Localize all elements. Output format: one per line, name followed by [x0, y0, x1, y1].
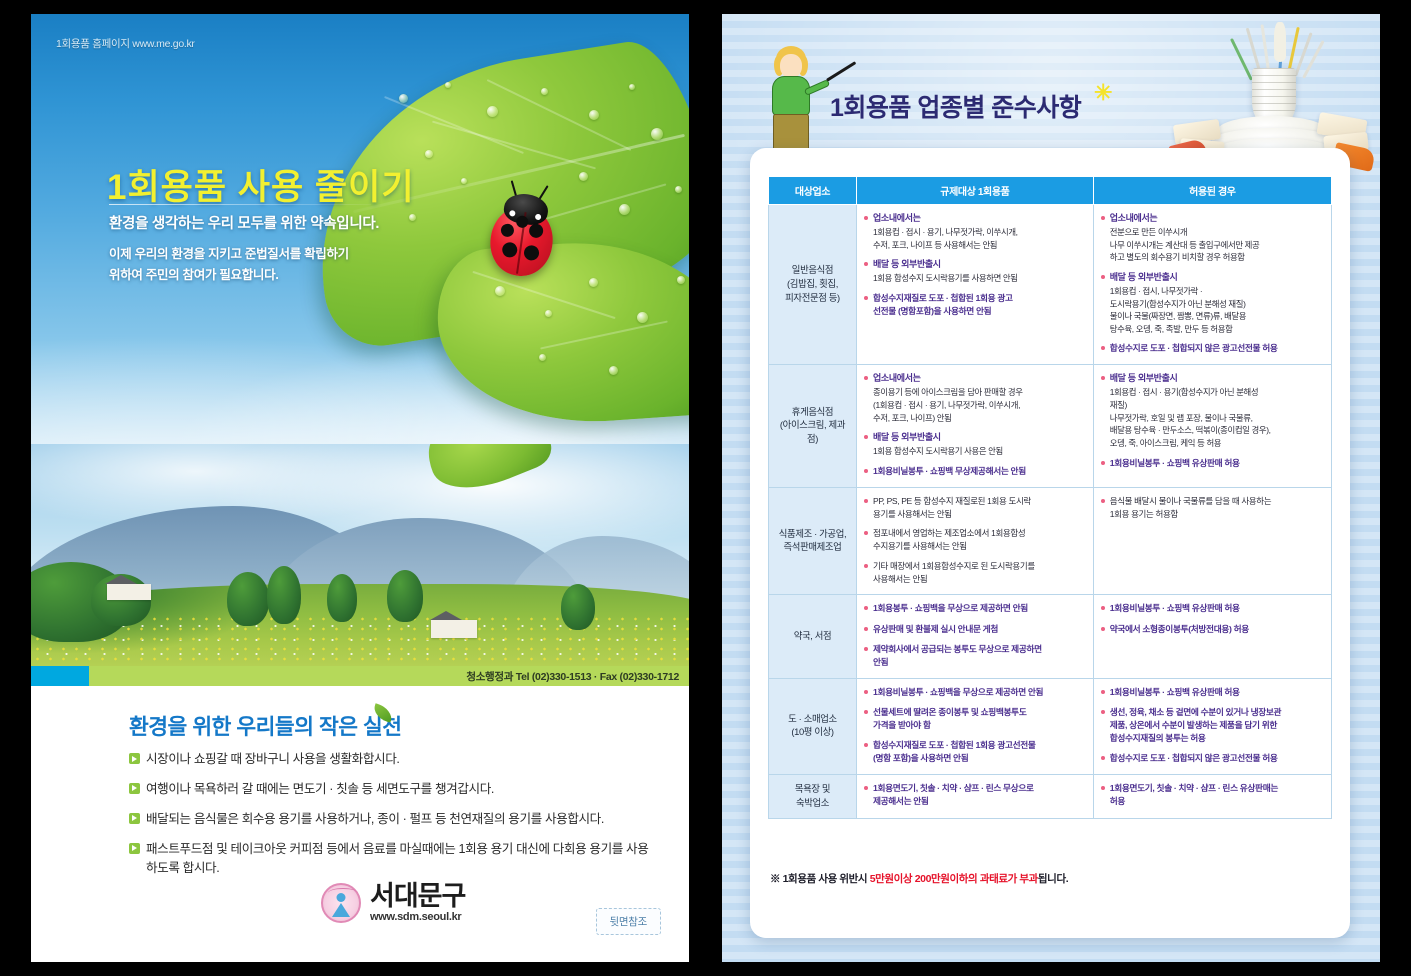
list-item: 시장이나 쇼핑갈 때 장바구니 사용을 생활화합시다. — [129, 750, 657, 769]
spoon-icon — [1274, 22, 1286, 62]
bullet-block: 1회용비닐봉투 · 쇼핑백 유상판매 허용 — [1101, 602, 1324, 615]
table-row: 식품제조 · 가공업, 즉석판매제조업 PP, PS, PE 등 합성수지 재질… — [769, 487, 1332, 595]
page-title: 1회용품 사용 줄이기 — [107, 159, 415, 210]
bullet-head: 업소내에서는 — [864, 372, 1086, 385]
back-reference-badge[interactable]: 뒷면참조 — [596, 908, 661, 935]
bullet-solo: 합성수지재질로 도포 · 첩합된 1회용 광고 선전물 (명함포함)을 사용하면… — [864, 292, 1086, 318]
regulated-cell: 1회용면도기, 칫솔 · 치약 · 샴프 · 린스 무상으로 제공해서는 안됨 — [857, 774, 1094, 818]
dew-drop — [651, 128, 663, 140]
bullet-block: 생선, 정육, 채소 등 겉면에 수분이 있거나 냉장보관 제품, 상온에서 수… — [1101, 706, 1324, 745]
dew-drop — [675, 186, 682, 193]
regulated-cell: 1회용봉투 · 쇼핑백을 무상으로 제공하면 안됨 유상판매 및 환불제 실시 … — [857, 595, 1094, 678]
list-item: 배달되는 음식물은 회수용 용기를 사용하거나, 종이 · 펄프 등 천연재질의… — [129, 810, 657, 829]
list-item: 여행이나 목욕하러 갈 때에는 면도기 · 칫솔 등 세면도구를 챙겨갑시다. — [129, 780, 657, 799]
logo-text: 서대문구 www.sdm.seoul.kr — [370, 882, 465, 924]
brochure-stage: 1회용품 홈페이지 www.me.go.kr — [0, 0, 1411, 976]
bullet-block: 1회용비닐봉투 · 쇼핑백 무상제공해서는 안됨 — [864, 465, 1086, 478]
bullet-block: 합성수지재질로 도포 · 첩합된 1회용 광고 선전물 (명함포함)을 사용하면… — [864, 292, 1086, 318]
bullet-sub: 전분으로 만든 이쑤시개 나무 이쑤시개는 계산대 등 출입구에서만 제공 하고… — [1101, 226, 1324, 264]
bullet-sub: 1회용 합성수지 도시락용기를 사용하면 안됨 — [864, 272, 1086, 285]
band-cyan-block — [31, 666, 89, 686]
column-header-allowed: 허용된 경우 — [1093, 177, 1331, 205]
district-url: www.sdm.seoul.kr — [370, 912, 465, 924]
tip-text: 패스트푸드점 및 테이크아웃 커피점 등에서 음료를 마실때에는 1회용 용기 … — [146, 840, 657, 878]
dew-drop — [409, 214, 416, 221]
bullet-plain: PP, PS, PE 등 합성수지 재질로된 1회용 도시락 용기를 사용해서는… — [864, 495, 1086, 521]
regulated-cell: 1회용비닐봉투 · 쇼핑백을 무상으로 제공하면 안됨 선물세트에 딸려온 종이… — [857, 678, 1094, 774]
table-row: 휴게음식점 (아이스크림, 제과점) 업소내에서는 종이용기 등에 아이스크림을… — [769, 365, 1332, 488]
ladybug-eye — [535, 214, 542, 221]
bullet-block: PP, PS, PE 등 합성수지 재질로된 1회용 도시락 용기를 사용해서는… — [864, 495, 1086, 521]
column-header-regulated: 규제대상 1회용품 — [857, 177, 1094, 205]
bullet-solo: 선물세트에 딸려온 종이봉투 및 쇼핑백봉투도 가격을 받아야 함 — [864, 706, 1086, 732]
regulated-cell: 업소내에서는 종이용기 등에 아이스크림을 담아 판매할 경우 (1회용컵 · … — [857, 365, 1094, 488]
bullet-block: 유상판매 및 환불제 실시 안내문 게첨 — [864, 623, 1086, 636]
dew-drop — [487, 106, 498, 117]
teacher-top — [772, 76, 810, 116]
business-category: 휴게음식점 (아이스크림, 제과점) — [769, 365, 857, 488]
bullet-solo: 1회용비닐봉투 · 쇼핑백 유상판매 허용 — [1101, 457, 1324, 470]
dew-drop — [399, 94, 408, 103]
dew-drop — [589, 278, 598, 287]
bullet-block: 1회용비닐봉투 · 쇼핑백을 무상으로 제공하면 안됨 — [864, 686, 1086, 699]
bullet-solo: 1회용면도기, 칫솔 · 치약 · 샴프 · 린스 유상판매는 허용 — [1101, 782, 1324, 808]
star-accent-icon: ✳ — [1094, 80, 1112, 106]
bullet-block: 1회용비닐봉투 · 쇼핑백 유상판매 허용 — [1101, 457, 1324, 470]
bullet-plain: 점포내에서 영업하는 제조업소에서 1회용합성 수지용기를 사용해서는 안됨 — [864, 527, 1086, 553]
bullet-solo: 합성수지로 도포 · 첩합되지 않은 광고선전물 허용 — [1101, 342, 1324, 355]
page-subtitle: 환경을 생각하는 우리 모두를 위한 약속입니다. — [109, 212, 379, 233]
bullet-sub: 1회용컵 · 접시, 나무젓가락 · 도시락용기(합성수지가 아닌 분해성 재질… — [1101, 285, 1324, 335]
dew-drop — [619, 204, 630, 215]
bullet-block: 기타 매장에서 1회용합성수지로 된 도시락용기를 사용해서는 안됨 — [864, 560, 1086, 586]
dew-drop — [445, 82, 451, 88]
arrow-bullet-icon — [129, 753, 140, 764]
bullet-block: 배달 등 외부반출시 1회용컵 · 접시 · 용기(합성수지가 아닌 분해성 재… — [1101, 372, 1324, 449]
farmhouse — [107, 584, 151, 600]
district-logo: 서대문구 www.sdm.seoul.kr — [321, 882, 465, 924]
bullet-block: 음식물 배달시 물이나 국물류를 담을 때 사용하는 1회용 용기는 허용함 — [1101, 495, 1324, 521]
bullet-sub: 1회용컵 · 접시 · 용기, 나무젓가락, 이쑤시개, 수저, 포크, 나이프… — [864, 226, 1086, 251]
bullet-block: 합성수지재질로 도포 · 첩합된 1회용 광고선전물 (명함 포함)을 사용하면… — [864, 739, 1086, 765]
allowed-cell: 1회용면도기, 칫솔 · 치약 · 샴프 · 린스 유상판매는 허용 — [1093, 774, 1331, 818]
bullet-block: 업소내에서는 전분으로 만든 이쑤시개 나무 이쑤시개는 계산대 등 출입구에서… — [1101, 212, 1324, 264]
left-page: 1회용품 홈페이지 www.me.go.kr — [31, 14, 689, 962]
bullet-head: 배달 등 외부반출시 — [1101, 271, 1324, 284]
dew-drop — [589, 110, 599, 120]
tip-text: 여행이나 목욕하러 갈 때에는 면도기 · 칫솔 등 세면도구를 챙겨갑시다. — [146, 780, 494, 799]
bullet-solo: 1회용비닐봉투 · 쇼핑백 무상제공해서는 안됨 — [864, 465, 1086, 478]
table-row: 목욕장 및 숙박업소 1회용면도기, 칫솔 · 치약 · 샴프 · 린스 무상으… — [769, 774, 1332, 818]
arrow-bullet-icon — [129, 783, 140, 794]
bullet-solo: 제약회사에서 공급되는 봉투도 무상으로 제공하면 안됨 — [864, 643, 1086, 669]
allowed-cell: 음식물 배달시 물이나 국물류를 담을 때 사용하는 1회용 용기는 허용함 — [1093, 487, 1331, 595]
tip-text: 시장이나 쇼핑갈 때 장바구니 사용을 생활화합시다. — [146, 750, 400, 769]
farmhouse — [431, 620, 477, 638]
tree-clump — [327, 574, 357, 622]
section-title: 환경을 위한 우리들의 작은 실천 — [129, 710, 402, 741]
color-band: 청소행정과 Tel (02)330-1513 · Fax (02)330-171… — [31, 666, 689, 686]
tree-clump — [267, 566, 301, 624]
dew-drop — [495, 286, 505, 296]
allowed-cell: 1회용비닐봉투 · 쇼핑백 유상판매 허용 생선, 정육, 채소 등 겉면에 수… — [1093, 678, 1331, 774]
bullet-block: 1회용비닐봉투 · 쇼핑백 유상판매 허용 — [1101, 686, 1324, 699]
list-item: 패스트푸드점 및 테이크아웃 커피점 등에서 음료를 마실때에는 1회용 용기 … — [129, 840, 657, 878]
dew-drop — [425, 150, 433, 158]
penalty-note-prefix: ※ 1회용품 사용 위반시 — [770, 873, 870, 885]
tips-list: 시장이나 쇼핑갈 때 장바구니 사용을 생활화합시다. 여행이나 목욕하러 갈 … — [129, 750, 657, 888]
bullet-block: 배달 등 외부반출시 1회용 합성수지 도시락용기를 사용하면 안됨 — [864, 258, 1086, 285]
allowed-cell: 배달 등 외부반출시 1회용컵 · 접시 · 용기(합성수지가 아닌 분해성 재… — [1093, 365, 1331, 488]
title-divider — [109, 204, 371, 205]
dew-drop — [637, 312, 648, 323]
business-category: 목욕장 및 숙박업소 — [769, 774, 857, 818]
column-header-business: 대상업소 — [769, 177, 857, 205]
business-category: 도 · 소매업소 (10평 이상) — [769, 678, 857, 774]
business-category: 약국, 서점 — [769, 595, 857, 678]
bullet-sub: 1회용컵 · 접시 · 용기(합성수지가 아닌 분해성 재질) 나무젓가락, 호… — [1101, 386, 1324, 449]
table-header-row: 대상업소 규제대상 1회용품 허용된 경우 — [769, 177, 1332, 205]
leaf-lower — [433, 232, 689, 432]
bullet-head: 업소내에서는 — [864, 212, 1086, 225]
allowed-cell: 1회용비닐봉투 · 쇼핑백 유상판매 허용 약국에서 소형종이봉투(처방전대용)… — [1093, 595, 1331, 678]
landscape-photo — [31, 444, 689, 672]
bullet-solo: 합성수지재질로 도포 · 첩합된 1회용 광고선전물 (명함 포함)을 사용하면… — [864, 739, 1086, 765]
tree-clump — [227, 572, 269, 626]
bullet-head: 배달 등 외부반출시 — [1101, 372, 1324, 385]
dew-drop — [545, 310, 552, 317]
bullet-head: 업소내에서는 — [1101, 212, 1324, 225]
regulated-cell: PP, PS, PE 등 합성수지 재질로된 1회용 도시락 용기를 사용해서는… — [857, 487, 1094, 595]
ladybug-eye — [509, 210, 516, 217]
seodaemun-emblem-icon — [321, 883, 361, 923]
bullet-solo: 유상판매 및 환불제 실시 안내문 게첨 — [864, 623, 1086, 636]
teacher-face — [780, 54, 802, 78]
arrow-bullet-icon — [129, 843, 140, 854]
arrow-bullet-icon — [129, 813, 140, 824]
compliance-table: 대상업소 규제대상 1회용품 허용된 경우 일반음식점 (김밥집, 횟집, 피자… — [768, 176, 1332, 819]
ladybug-illustration — [483, 182, 563, 281]
bullet-block: 점포내에서 영업하는 제조업소에서 1회용합성 수지용기를 사용해서는 안됨 — [864, 527, 1086, 553]
bullet-block: 제약회사에서 공급되는 봉투도 무상으로 제공하면 안됨 — [864, 643, 1086, 669]
bullet-block: 배달 등 외부반출시 1회용 합성수지 도시락용기 사용은 안됨 — [864, 431, 1086, 458]
table-row: 일반음식점 (김밥집, 횟집, 피자전문점 등) 업소내에서는 1회용컵 · 접… — [769, 205, 1332, 365]
penalty-note: ※ 1회용품 사용 위반시 5만원이상 200만원이하의 과태료가 부과됩니다. — [770, 871, 1330, 886]
bullet-solo: 1회용면도기, 칫솔 · 치약 · 샴프 · 린스 무상으로 제공해서는 안됨 — [864, 782, 1086, 808]
bullet-solo: 1회용봉투 · 쇼핑백을 무상으로 제공하면 안됨 — [864, 602, 1086, 615]
emblem-figure-body — [332, 903, 350, 917]
penalty-note-amount: 5만원이상 200만원이하의 과태료가 부과 — [870, 873, 1038, 885]
district-name: 서대문구 — [370, 882, 465, 910]
bullet-solo: 합성수지로 도포 · 첩합되지 않은 광고선전물 허용 — [1101, 752, 1324, 765]
bullet-plain: 음식물 배달시 물이나 국물류를 담을 때 사용하는 1회용 용기는 허용함 — [1101, 495, 1324, 521]
bullet-plain: 기타 매장에서 1회용합성수지로 된 도시락용기를 사용해서는 안됨 — [864, 560, 1086, 586]
bullet-sub: 종이용기 등에 아이스크림을 담아 판매할 경우 (1회용컵 · 접시 · 용기… — [864, 386, 1086, 424]
bullet-block: 약국에서 소형종이봉투(처방전대용) 허용 — [1101, 623, 1324, 636]
bullet-block: 합성수지로 도포 · 첩합되지 않은 광고선전물 허용 — [1101, 342, 1324, 355]
bullet-block: 업소내에서는 종이용기 등에 아이스크림을 담아 판매할 경우 (1회용컵 · … — [864, 372, 1086, 424]
table-row: 약국, 서점 1회용봉투 · 쇼핑백을 무상으로 제공하면 안됨 유상판매 및 … — [769, 595, 1332, 678]
dew-drop — [677, 276, 685, 284]
page-body-text: 이제 우리의 환경을 지키고 준법질서를 확립하기 위하여 주민의 참여가 필요… — [109, 244, 399, 285]
farmhouse-roof — [105, 575, 137, 584]
business-category: 일반음식점 (김밥집, 횟집, 피자전문점 등) — [769, 205, 857, 365]
dew-drop — [461, 178, 467, 184]
tree-clump — [387, 570, 423, 622]
allowed-cell: 업소내에서는 전분으로 만든 이쑤시개 나무 이쑤시개는 계산대 등 출입구에서… — [1093, 205, 1331, 365]
homepage-url: 1회용품 홈페이지 www.me.go.kr — [56, 36, 195, 51]
bullet-block: 1회용면도기, 칫솔 · 치약 · 샴프 · 린스 유상판매는 허용 — [1101, 782, 1324, 808]
tree-clump — [561, 584, 595, 630]
bullet-block: 1회용봉투 · 쇼핑백을 무상으로 제공하면 안됨 — [864, 602, 1086, 615]
dew-drop — [579, 172, 588, 181]
penalty-note-suffix: 됩니다. — [1038, 873, 1068, 885]
emblem-figure-head — [337, 893, 346, 902]
table-row: 도 · 소매업소 (10평 이상) 1회용비닐봉투 · 쇼핑백을 무상으로 제공… — [769, 678, 1332, 774]
dew-drop — [609, 366, 618, 375]
dew-drop — [539, 354, 546, 361]
compliance-table-card: 대상업소 규제대상 1회용품 허용된 경우 일반음식점 (김밥집, 횟집, 피자… — [750, 148, 1350, 938]
bullet-solo: 1회용비닐봉투 · 쇼핑백을 무상으로 제공하면 안됨 — [864, 686, 1086, 699]
contact-info: 청소행정과 Tel (02)330-1513 · Fax (02)330-171… — [466, 669, 679, 684]
right-page-title: 1회용품 업종별 준수사항 — [830, 88, 1081, 124]
bullet-block: 선물세트에 딸려온 종이봉투 및 쇼핑백봉투도 가격을 받아야 함 — [864, 706, 1086, 732]
regulated-cell: 업소내에서는 1회용컵 · 접시 · 용기, 나무젓가락, 이쑤시개, 수저, … — [857, 205, 1094, 365]
right-page: 1회용품 업종별 준수사항 ✳ 대상업소 규제대상 1회용품 허용된 경우 일반… — [722, 14, 1380, 962]
bullet-block: 업소내에서는 1회용컵 · 접시 · 용기, 나무젓가락, 이쑤시개, 수저, … — [864, 212, 1086, 251]
business-category: 식품제조 · 가공업, 즉석판매제조업 — [769, 487, 857, 595]
bullet-head: 배달 등 외부반출시 — [864, 431, 1086, 444]
bullet-block: 배달 등 외부반출시 1회용컵 · 접시, 나무젓가락 · 도시락용기(합성수지… — [1101, 271, 1324, 335]
bullet-solo: 생선, 정육, 채소 등 겉면에 수분이 있거나 냉장보관 제품, 상온에서 수… — [1101, 706, 1324, 745]
bullet-block: 1회용면도기, 칫솔 · 치약 · 샴프 · 린스 무상으로 제공해서는 안됨 — [864, 782, 1086, 808]
farmhouse-roof — [430, 611, 462, 620]
tip-text: 배달되는 음식물은 회수용 용기를 사용하거나, 종이 · 펄프 등 천연재질의… — [146, 810, 604, 829]
bullet-head: 배달 등 외부반출시 — [864, 258, 1086, 271]
bullet-solo: 약국에서 소형종이봉투(처방전대용) 허용 — [1101, 623, 1324, 636]
dew-drop — [541, 88, 548, 95]
band-green-block: 청소행정과 Tel (02)330-1513 · Fax (02)330-171… — [89, 666, 689, 686]
bullet-block: 합성수지로 도포 · 첩합되지 않은 광고선전물 허용 — [1101, 752, 1324, 765]
bullet-solo: 1회용비닐봉투 · 쇼핑백 유상판매 허용 — [1101, 602, 1324, 615]
bullet-sub: 1회용 합성수지 도시락용기 사용은 안됨 — [864, 445, 1086, 458]
bullet-solo: 1회용비닐봉투 · 쇼핑백 유상판매 허용 — [1101, 686, 1324, 699]
dew-drop — [629, 84, 635, 90]
practices-section: 환경을 위한 우리들의 작은 실천 시장이나 쇼핑갈 때 장바구니 사용을 생활… — [31, 686, 689, 962]
